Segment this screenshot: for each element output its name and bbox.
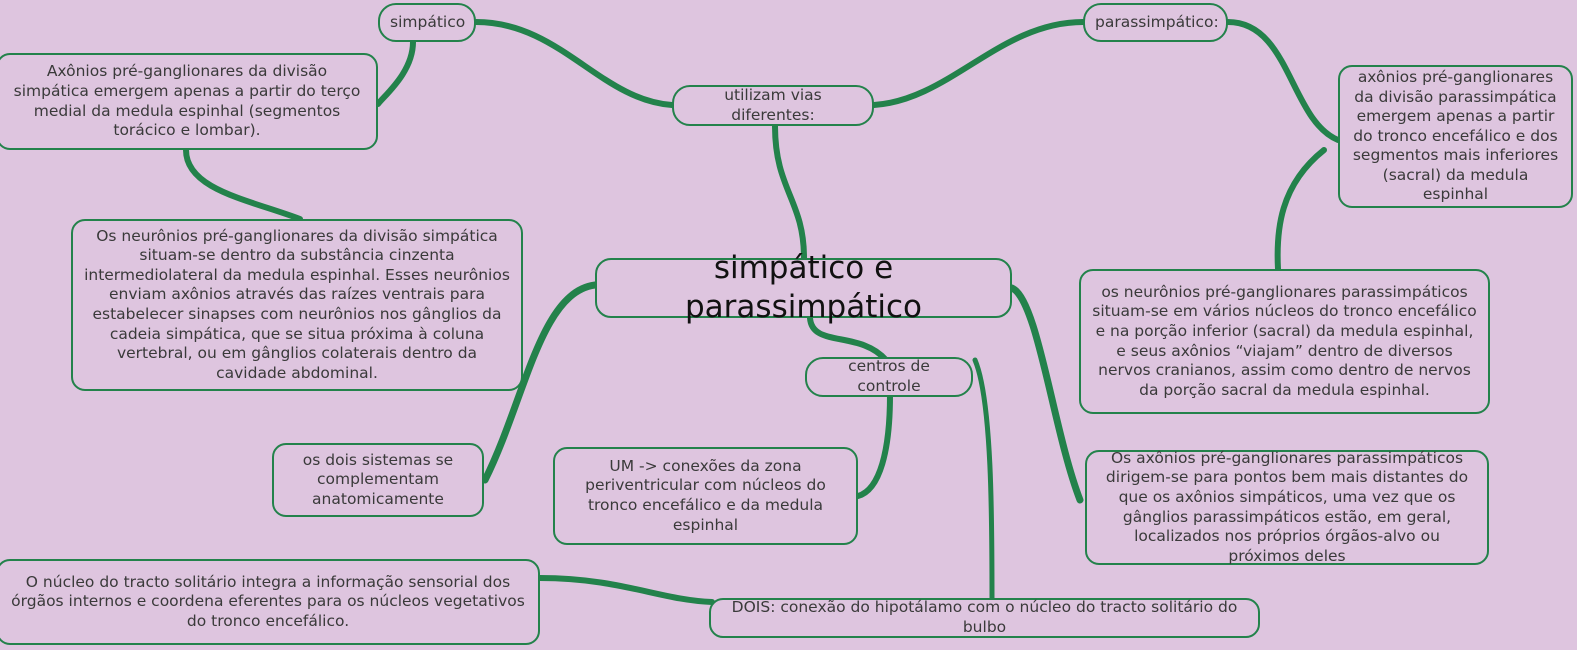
edge-nucleo-to-dois xyxy=(540,578,712,602)
edge-central-to-distantes xyxy=(1012,288,1080,500)
edge-simpatico-to-axonios xyxy=(378,42,413,104)
node-dois-sistemas[interactable]: os dois sistemas se complementam anatomi… xyxy=(272,443,484,517)
edge-parassimpatico-to-vias xyxy=(874,22,1083,105)
node-simpatico-label[interactable]: simpático xyxy=(378,3,476,42)
node-utilizam-vias-diferentes[interactable]: utilizam vias diferentes: xyxy=(672,85,874,126)
edge-centros-to-um xyxy=(858,395,890,496)
node-parassimpatico-label[interactable]: parassimpático: xyxy=(1083,3,1228,42)
node-simpatico-label-text: simpático xyxy=(390,13,464,33)
edge-centros-to-dois xyxy=(975,360,992,601)
node-utilizam-vias-diferentes-text: utilizam vias diferentes: xyxy=(684,86,862,125)
node-dois-conexao[interactable]: DOIS: conexão do hipotálamo com o núcleo… xyxy=(709,598,1260,638)
node-nucleo-tracto-solitario[interactable]: O núcleo do tracto solitário integra a i… xyxy=(0,559,540,645)
node-dois-conexao-text: DOIS: conexão do hipotálamo com o núcleo… xyxy=(721,598,1248,637)
node-centros-de-controle[interactable]: centros de controle xyxy=(805,357,973,397)
node-axonios-pre-parassimpatica[interactable]: axônios pré-ganglionares da divisão para… xyxy=(1338,65,1573,208)
node-neuronios-pre-parassimpaticos[interactable]: os neurônios pré-ganglionares parassimpá… xyxy=(1079,269,1490,414)
node-axonios-pre-parassimpatica-text: axônios pré-ganglionares da divisão para… xyxy=(1350,68,1561,205)
edge-vias-to-central xyxy=(775,126,804,258)
node-um-conexoes[interactable]: UM -> conexões da zona periventricular c… xyxy=(553,447,858,545)
node-axonios-parassimpaticos-distantes-text: Os axônios pré-ganglionares parassimpáti… xyxy=(1097,449,1477,566)
node-axonios-pre-simpatica-text: Axônios pré-ganglionares da divisão simp… xyxy=(8,62,366,140)
mindmap-canvas: simpático Axônios pré-ganglionares da di… xyxy=(0,0,1577,650)
node-neuronios-pre-simpatica-text: Os neurônios pré-ganglionares da divisão… xyxy=(83,227,511,383)
node-centros-de-controle-text: centros de controle xyxy=(817,357,961,396)
node-parassimpatico-label-text: parassimpático: xyxy=(1095,13,1216,33)
node-dois-sistemas-text: os dois sistemas se complementam anatomi… xyxy=(284,451,472,510)
node-axonios-pre-simpatica[interactable]: Axônios pré-ganglionares da divisão simp… xyxy=(0,53,378,150)
node-neuronios-pre-parassimpaticos-text: os neurônios pré-ganglionares parassimpá… xyxy=(1091,283,1478,400)
edge-parassimpatico-to-axonios-para xyxy=(1228,22,1338,140)
node-axonios-parassimpaticos-distantes[interactable]: Os axônios pré-ganglionares parassimpáti… xyxy=(1085,450,1489,565)
node-neuronios-pre-simpatica[interactable]: Os neurônios pré-ganglionares da divisão… xyxy=(71,219,523,391)
node-nucleo-tracto-solitario-text: O núcleo do tracto solitário integra a i… xyxy=(8,573,528,632)
edge-axonios-to-neuronios xyxy=(186,150,300,219)
edge-simpatico-to-vias xyxy=(476,22,672,105)
edge-axoniospara-to-neuronios xyxy=(1278,150,1324,269)
node-um-conexoes-text: UM -> conexões da zona periventricular c… xyxy=(565,457,846,535)
node-central-topic[interactable]: simpático e parassimpático xyxy=(595,258,1012,318)
node-central-topic-text: simpático e parassimpático xyxy=(611,249,996,327)
